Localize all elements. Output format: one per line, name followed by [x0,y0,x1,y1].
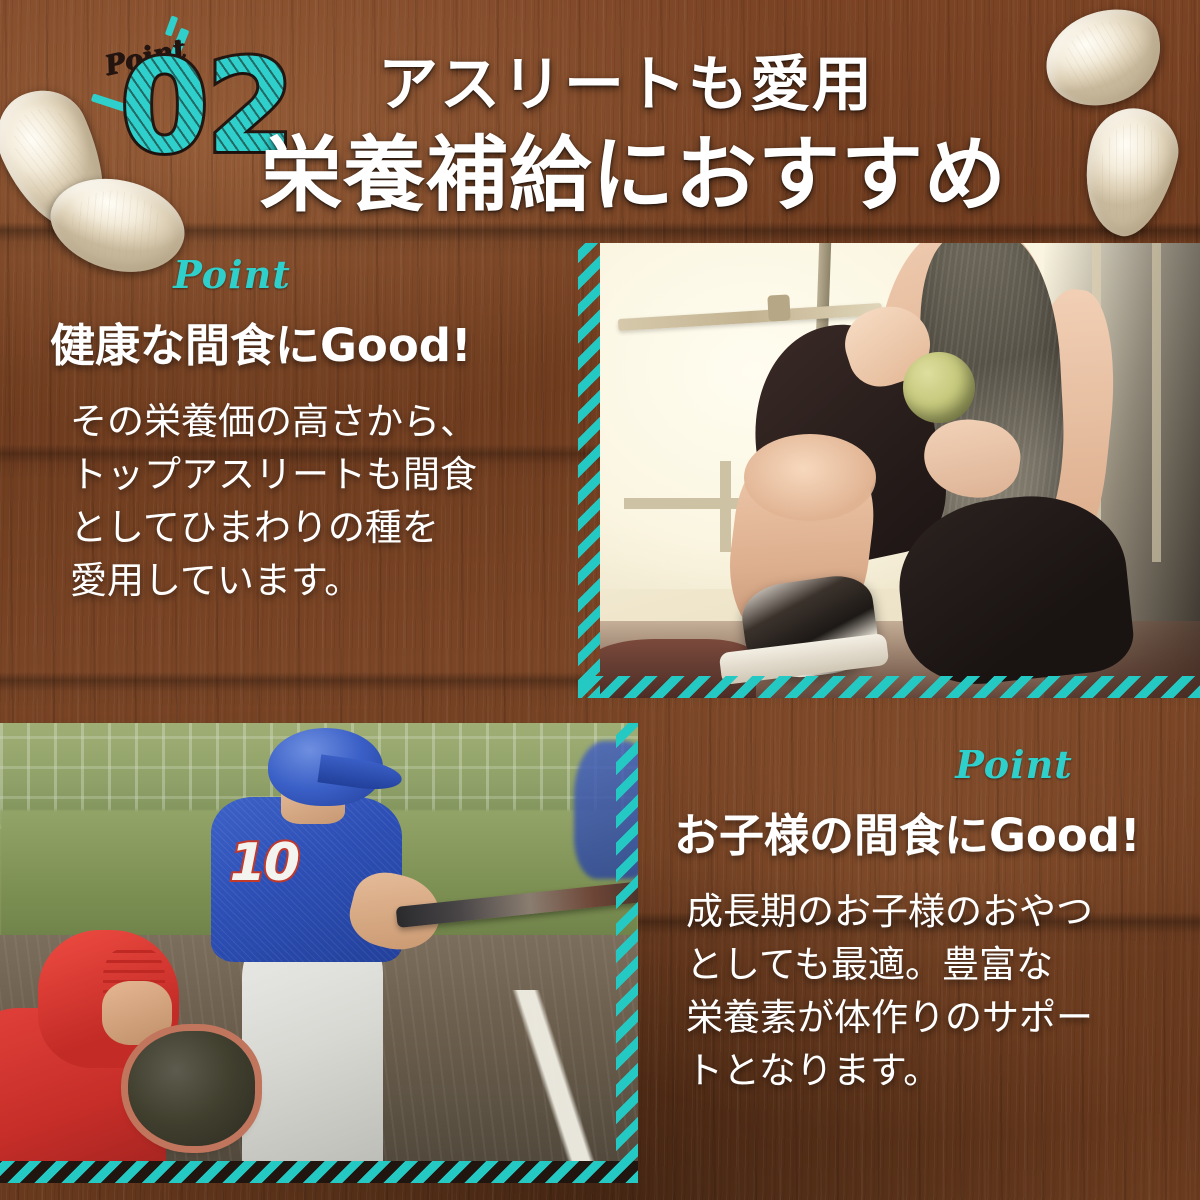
point-block-2: Point お子様の間食にGood! 成長期のお子様のおやつ としても最適。豊富… [672,742,1186,1098]
stripe-border-left [578,243,600,698]
barbell-collar-icon [767,295,790,322]
photo-gym-woman [600,243,1200,698]
point-headline: お子様の間食にGood! [674,799,1186,864]
photo-baseball: 10 [0,723,638,1183]
point-block-1: Point 健康な間食にGood! その栄養価の高さから、 トップアスリートも間… [52,252,572,608]
point-body-line: としても最適。豊富な [686,939,1186,992]
point-body-line: としてひまわりの種を [70,502,572,555]
poster-canvas: Point 02 02 アスリートも愛用 栄養補給におすすめ [0,0,1200,1200]
batter-pants [242,939,382,1183]
point-script-label: Point [0,252,572,297]
woman-knee [744,434,876,520]
point-body-line: トップアスリートも間食 [70,449,572,502]
sunflower-seed-icon [1071,99,1187,244]
apple-icon [903,352,975,423]
point-body-line: 愛用しています。 [70,555,572,608]
point-body-line: トとなります。 [686,1045,1186,1098]
point-body-line: その栄養価の高さから、 [70,396,572,449]
header-title-line2: 栄養補給におすすめ [260,108,1007,227]
catchers-mitt [128,1031,256,1146]
point-body: その栄養価の高さから、 トップアスリートも間食 としてひまわりの種を 愛用してい… [70,396,572,608]
background-player [574,741,638,879]
point-body: 成長期のお子様のおやつ としても最適。豊富な 栄養素が体作りのサポー トとなりま… [686,886,1186,1098]
point-script-label: Point [842,742,1186,787]
point-headline: 健康な間食にGood! [50,309,572,374]
jersey-number: 10 [230,833,298,893]
point-body-line: 成長期のお子様のおやつ [686,886,1186,939]
window-mullion [1152,243,1161,562]
point-body-line: 栄養素が体作りのサポー [686,992,1186,1045]
foul-line [447,990,638,1174]
sunflower-seed-icon [1034,0,1174,119]
catcher-face [102,981,172,1045]
window-frame [720,461,731,552]
